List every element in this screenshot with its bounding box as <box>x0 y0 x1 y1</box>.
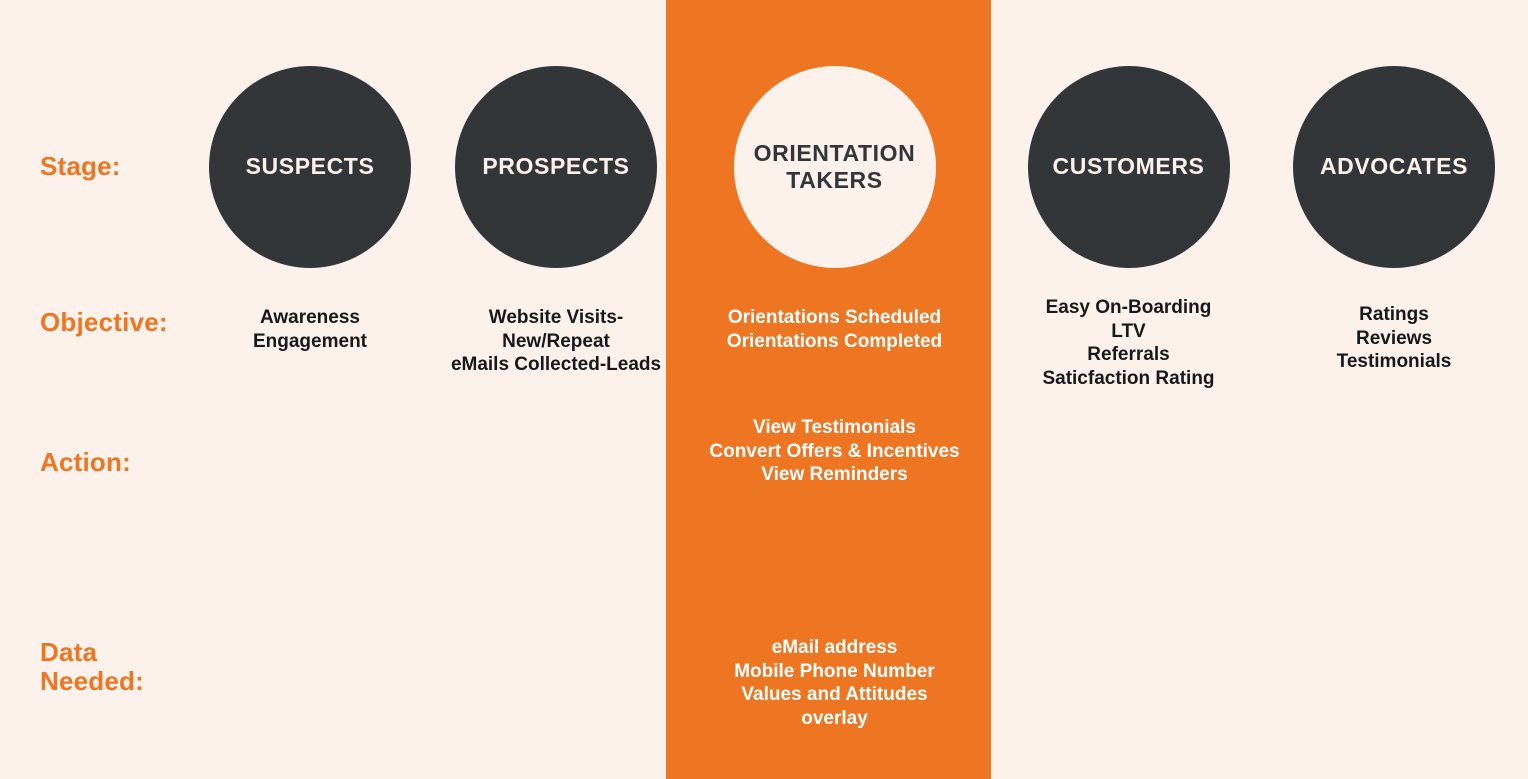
row-label-stage: Stage: <box>0 66 180 268</box>
row-label-objective: Objective: <box>0 296 180 406</box>
row-label-action-text: Action: <box>40 448 131 477</box>
stage-cell-orientation-takers: ORIENTATION TAKERS <box>672 66 997 268</box>
stage-circle-customers-label: CUSTOMERS <box>1053 153 1205 180</box>
stage-circle-orientation-takers[interactable]: ORIENTATION TAKERS <box>734 66 936 268</box>
data-needed-suspects <box>180 636 440 746</box>
stage-circle-prospects-label: PROSPECTS <box>482 153 629 180</box>
stage-cell-customers: CUSTOMERS <box>997 66 1260 268</box>
data-needed-advocates <box>1260 636 1528 746</box>
row-label-objective-text: Objective: <box>40 308 168 337</box>
action-advocates <box>1260 406 1528 526</box>
stage-circle-customers[interactable]: CUSTOMERS <box>1028 66 1230 268</box>
stage-circle-suspects[interactable]: SUSPECTS <box>209 66 411 268</box>
objective-prospects: Website Visits-New/Repeat eMails Collect… <box>440 296 672 406</box>
stage-cell-advocates: ADVOCATES <box>1260 66 1528 268</box>
data-needed-customers <box>997 636 1260 746</box>
stage-circle-prospects[interactable]: PROSPECTS <box>455 66 657 268</box>
stage-circle-advocates-label: ADVOCATES <box>1320 153 1468 180</box>
action-customers <box>997 406 1260 526</box>
action-orientation-takers: View Testimonials Convert Offers & Incen… <box>672 406 997 526</box>
stage-cell-suspects: SUSPECTS <box>180 66 440 268</box>
customer-journey-matrix: Stage: Objective: Action: Data Needed: S… <box>0 0 1528 779</box>
stage-cell-prospects: PROSPECTS <box>440 66 672 268</box>
row-label-data-needed: Data Needed: <box>0 636 180 746</box>
objective-customers: Easy On-Boarding LTV Referrals Saticfact… <box>997 296 1260 406</box>
row-label-stage-text: Stage: <box>40 152 121 181</box>
objective-advocates: Ratings Reviews Testimonials <box>1260 296 1528 406</box>
row-label-data-needed-text: Data Needed: <box>40 638 144 696</box>
data-needed-prospects <box>440 636 672 746</box>
action-prospects <box>440 406 672 526</box>
objective-suspects: Awareness Engagement <box>180 296 440 406</box>
data-needed-orientation-takers: eMail address Mobile Phone Number Values… <box>672 636 997 746</box>
stage-circle-orientation-takers-label: ORIENTATION TAKERS <box>754 140 916 194</box>
action-suspects <box>180 406 440 526</box>
objective-orientation-takers: Orientations Scheduled Orientations Comp… <box>672 296 997 406</box>
stage-circle-suspects-label: SUSPECTS <box>246 153 375 180</box>
row-label-action: Action: <box>0 406 180 526</box>
stage-circle-advocates[interactable]: ADVOCATES <box>1293 66 1495 268</box>
